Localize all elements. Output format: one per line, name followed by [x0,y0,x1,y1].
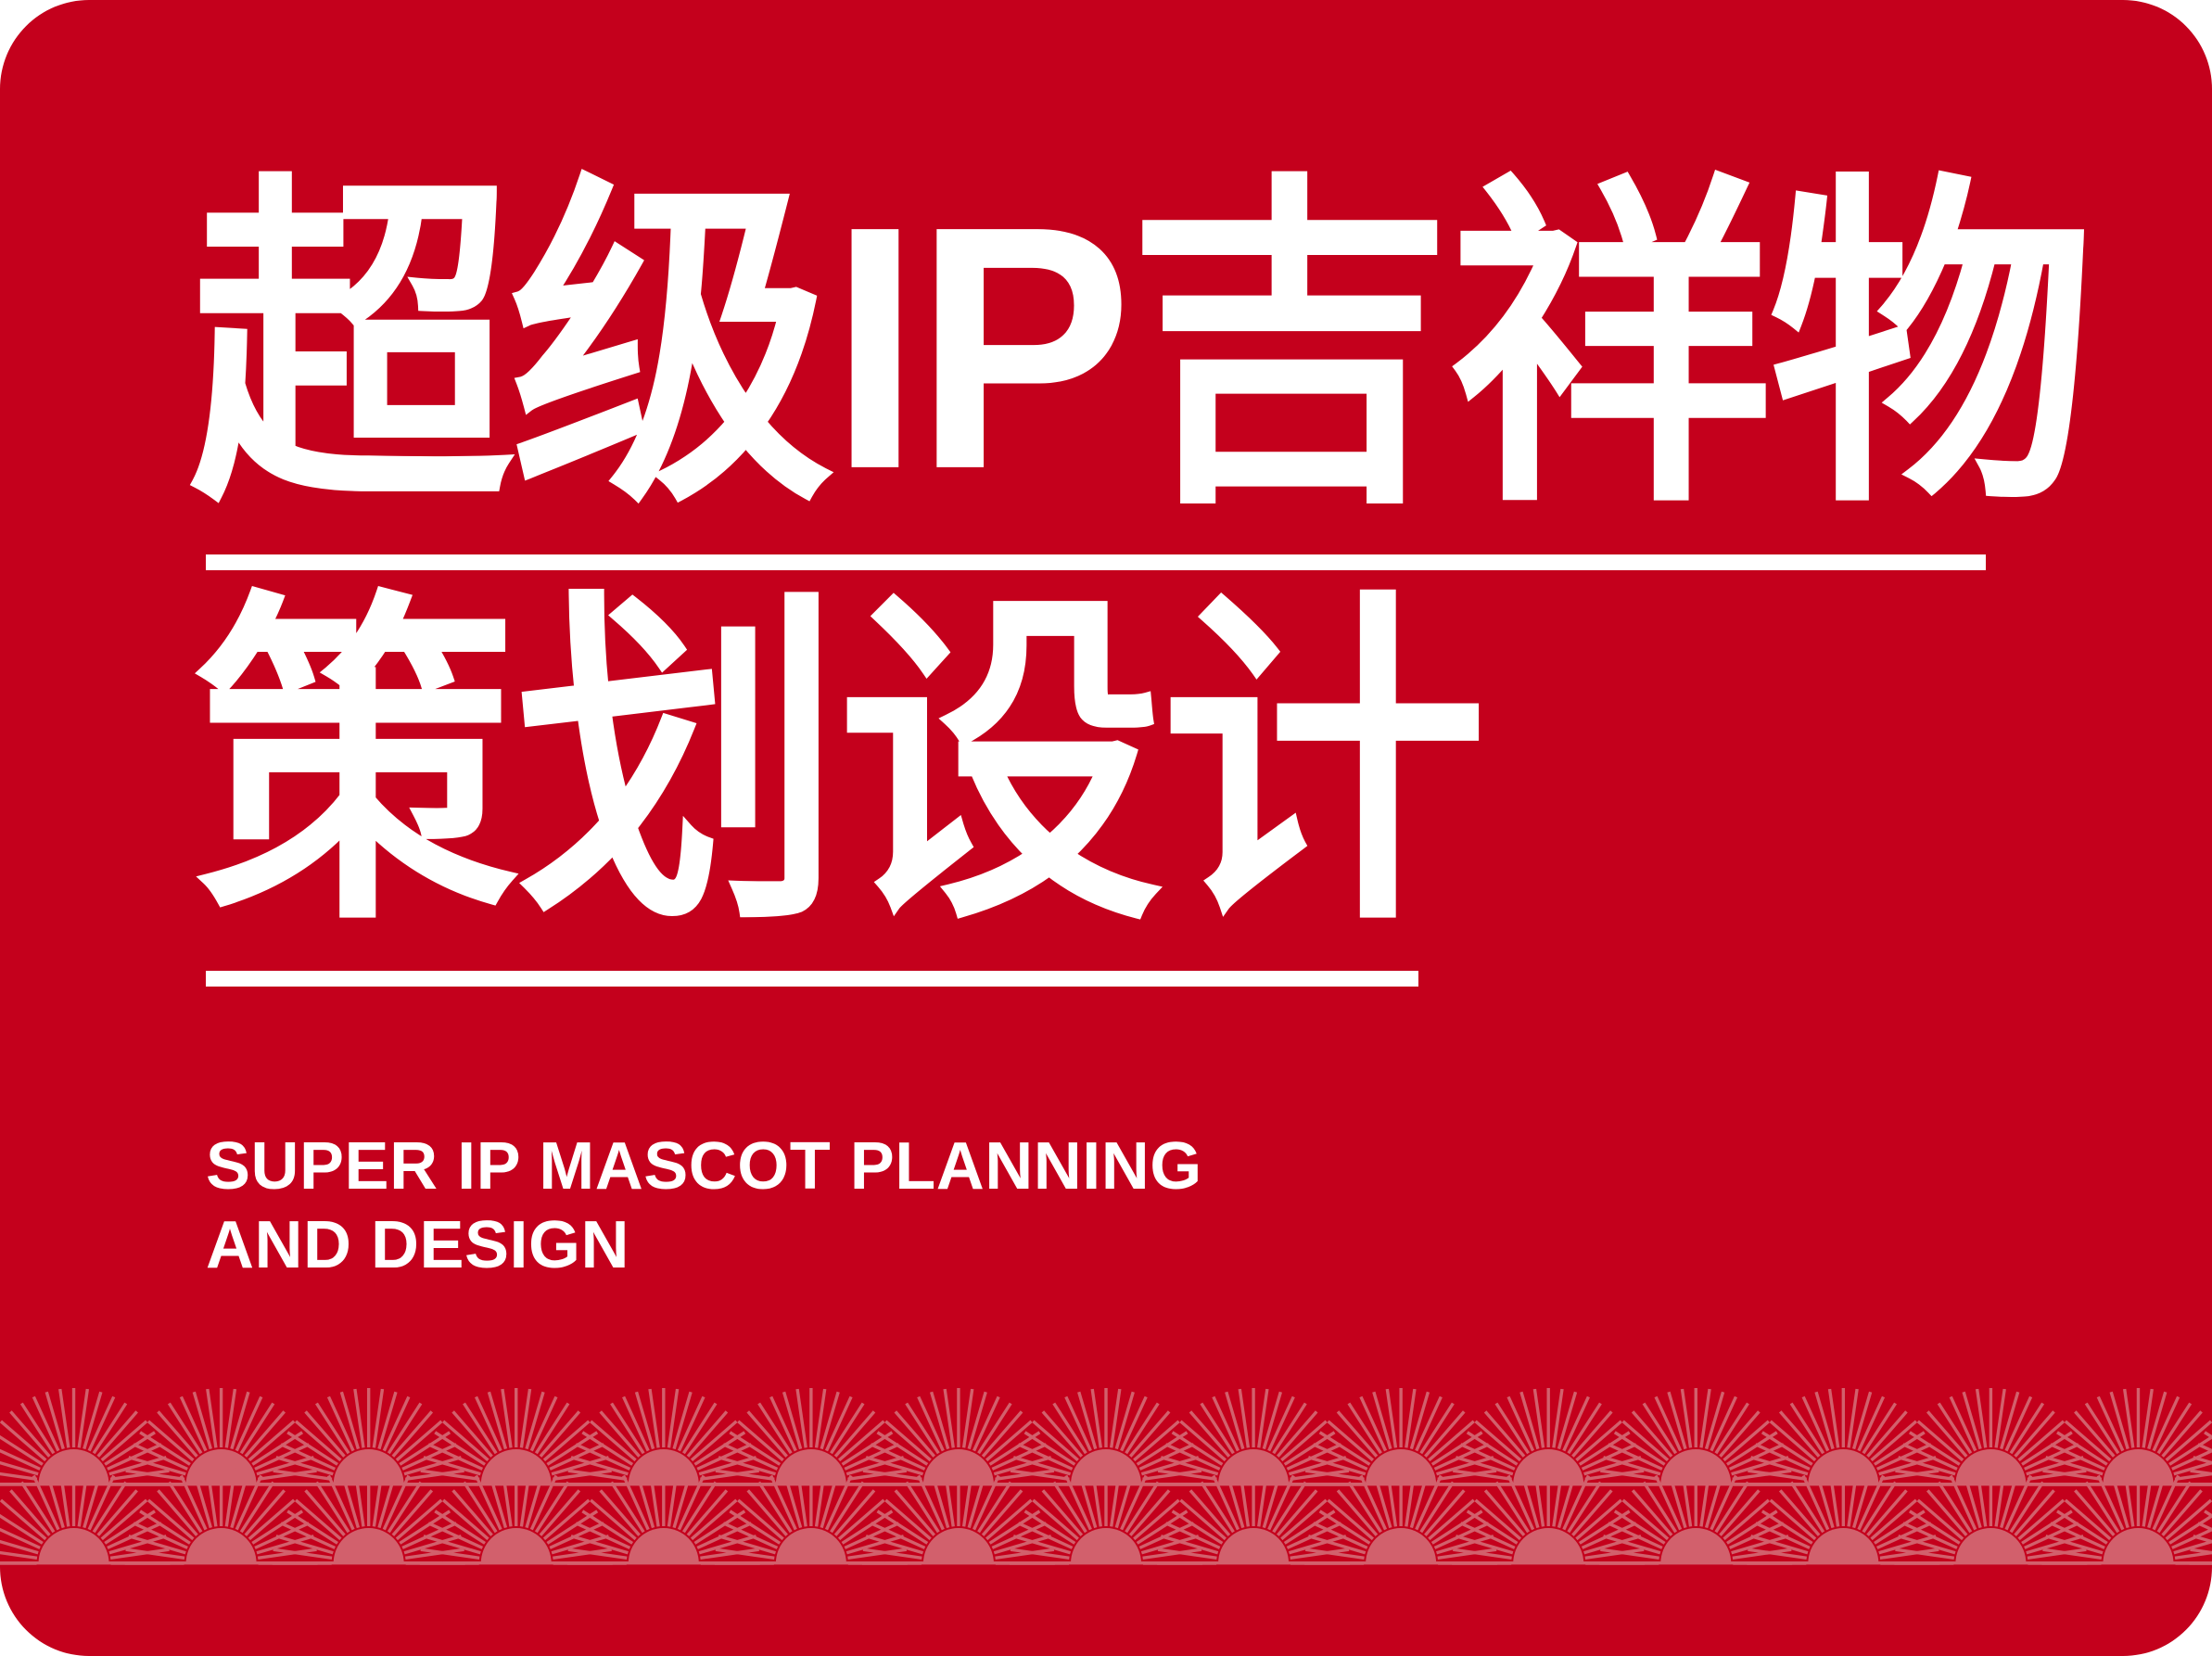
english-subtitle: SUPER IP MASCOT PLANNING AND DESIGN [206,1127,1202,1285]
title-line-secondary: 策划设计 [193,592,1483,937]
english-subtitle-line-2: AND DESIGN [206,1206,1202,1285]
title-line-primary: 超级IP吉祥物 [188,174,2090,520]
title-divider-top [206,554,1986,570]
rising-sun-burst-pattern-icon [0,1378,2212,1656]
poster-canvas: 超级IP吉祥物 策划设计 SUPER IP MASCOT PLANNING AN… [0,0,2212,1656]
title-divider-bottom [206,971,1418,987]
english-subtitle-line-1: SUPER IP MASCOT PLANNING [206,1127,1202,1206]
